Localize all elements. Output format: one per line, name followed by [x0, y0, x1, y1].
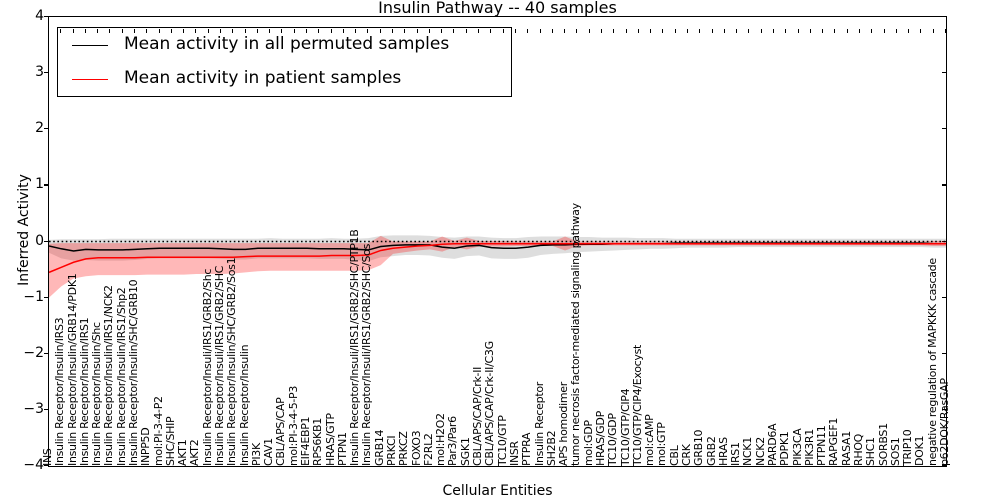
y-tick-label: −3 [4, 401, 44, 417]
y-tick-label: 4 [4, 8, 44, 24]
y-tick-label: −4 [4, 457, 44, 473]
legend-item-permuted: Mean activity in all permuted samples [58, 28, 511, 63]
y-tick-label: 3 [4, 64, 44, 80]
patient-confidence-band [49, 236, 946, 298]
chart-title: Insulin Pathway -- 40 samples [48, 0, 947, 16]
legend-item-patient: Mean activity in patient samples [58, 62, 511, 97]
legend-swatch-permuted [72, 45, 108, 46]
chart-legend: Mean activity in all permuted samples Me… [57, 27, 512, 97]
y-tick-label: 1 [4, 176, 44, 192]
legend-label-patient: Mean activity in patient samples [124, 68, 401, 88]
y-tick-label: 2 [4, 120, 44, 136]
y-tick-label: −2 [4, 345, 44, 361]
legend-label-permuted: Mean activity in all permuted samples [124, 34, 449, 54]
y-tick-label: 0 [4, 233, 44, 249]
patient-band-shape [49, 236, 946, 298]
figure-canvas: Insulin Pathway -- 40 samples Inferred A… [0, 0, 1000, 500]
y-axis-label: Inferred Activity [16, 120, 32, 340]
x-axis-label: Cellular Entities [48, 483, 947, 499]
legend-swatch-patient [72, 79, 108, 80]
y-tick-label: −1 [4, 289, 44, 305]
